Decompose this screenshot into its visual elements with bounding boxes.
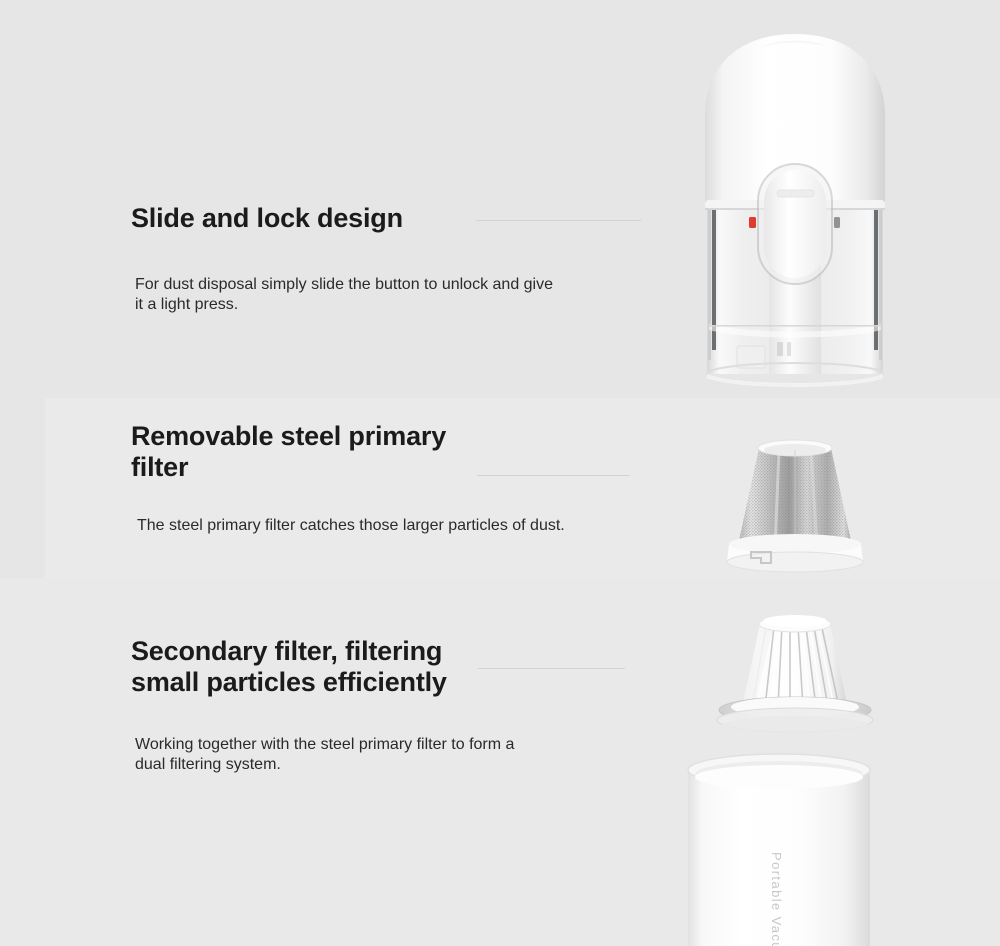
heading-divider-rule — [477, 475, 630, 476]
product-feature-page: Portable Vacuum Slide and lock design Fo… — [0, 0, 1000, 946]
heading-divider-rule — [476, 220, 641, 221]
feature-block-secondary-filter: Secondary filter, filtering small partic… — [131, 636, 691, 775]
secondary-hepa-filter-image — [690, 608, 900, 748]
feature-title: Slide and lock design — [131, 203, 691, 234]
feature-title: Secondary filter, filtering small partic… — [131, 636, 691, 698]
heading-divider-rule — [478, 668, 625, 669]
feature-description: Working together with the steel primary … — [135, 735, 691, 775]
feature-block-steel-primary-filter: Removable steel primary filter The steel… — [131, 421, 691, 536]
product-illustration-stack: Portable Vacuum — [640, 0, 1000, 946]
motor-head-and-dust-cup-image — [665, 24, 925, 409]
feature-title: Removable steel primary filter — [131, 421, 691, 483]
background-panel-top — [0, 0, 1000, 398]
feature-description: For dust disposal simply slide the butto… — [135, 275, 691, 315]
handle-body-image — [668, 752, 898, 946]
feature-description: The steel primary filter catches those l… — [137, 516, 691, 536]
product-body-label: Portable Vacuum — [769, 852, 784, 946]
steel-primary-filter-image — [695, 432, 895, 587]
